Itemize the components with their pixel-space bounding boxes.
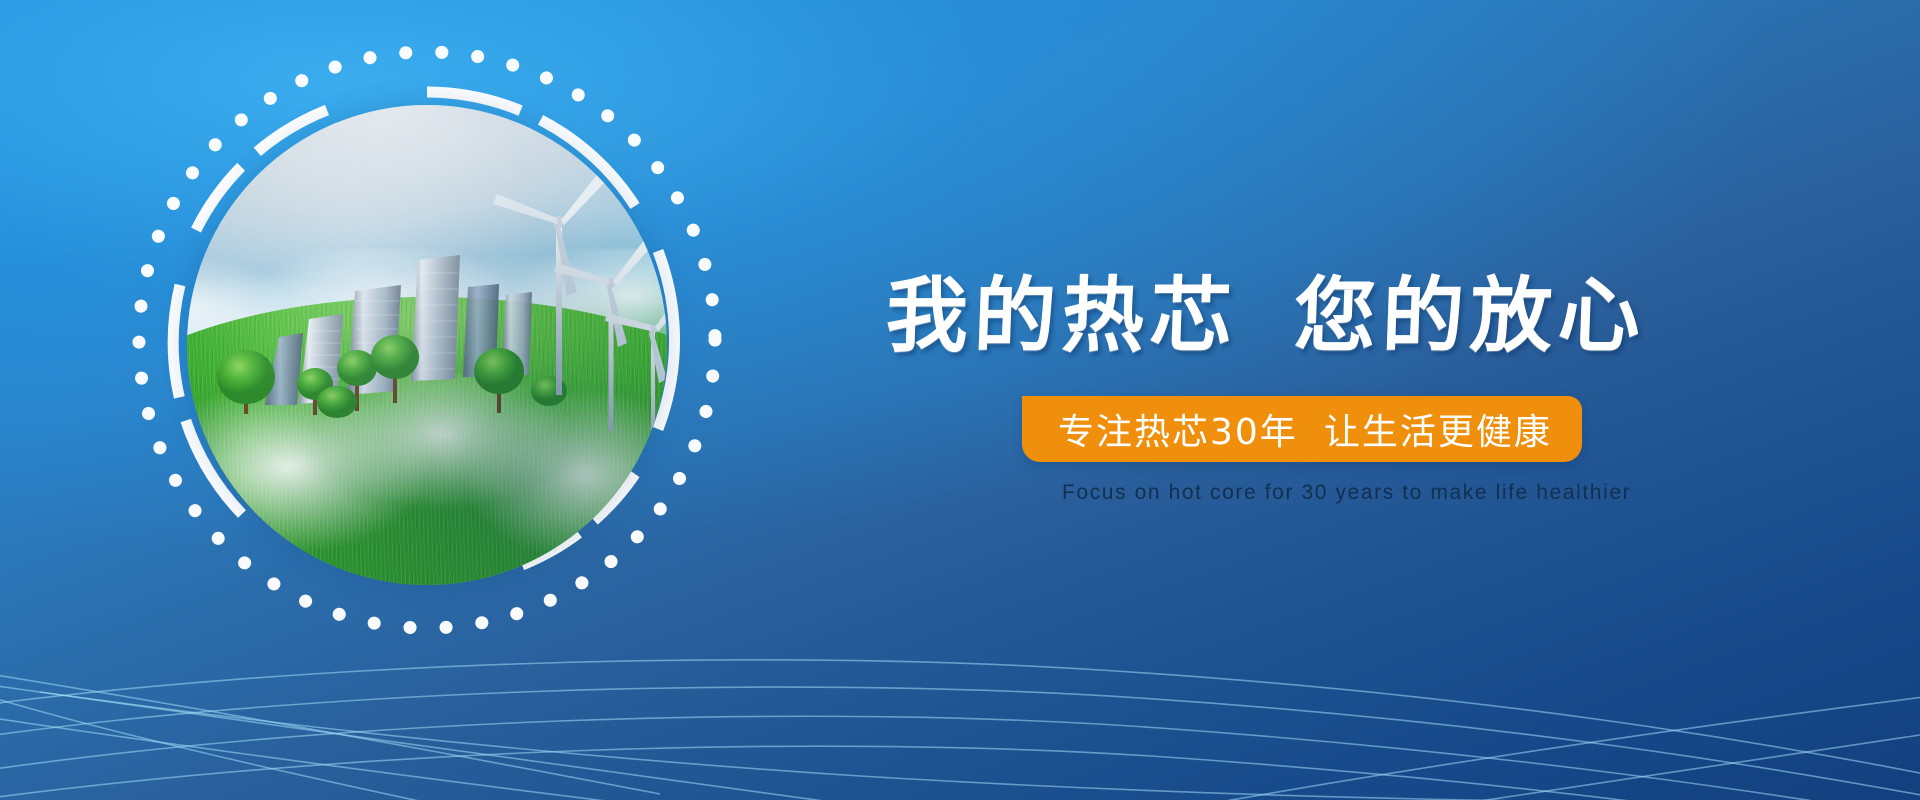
hero-banner: 我的热芯您的放心 专注热芯30年让生活更健康 Focus on hot core… [0, 0, 1920, 800]
tagline-badge: 专注热芯30年让生活更健康 [1022, 396, 1582, 462]
tagline-part-2: 让生活更健康 [1324, 412, 1552, 453]
tagline-part-1: 专注热芯30年 [1058, 412, 1298, 453]
page-title: 我的热芯您的放心 [885, 276, 1648, 358]
globe-shading [187, 105, 667, 585]
headline-part-2: 您的放心 [1292, 269, 1647, 364]
subtitle-text: Focus on hot core for 30 years to make l… [1062, 481, 1631, 505]
headline-part-1: 我的热芯 [884, 269, 1239, 364]
globe-graphic-cluster [122, 35, 732, 645]
tagline-text: 专注热芯30年让生活更健康 [1058, 403, 1552, 455]
eco-earth-globe [187, 105, 667, 585]
